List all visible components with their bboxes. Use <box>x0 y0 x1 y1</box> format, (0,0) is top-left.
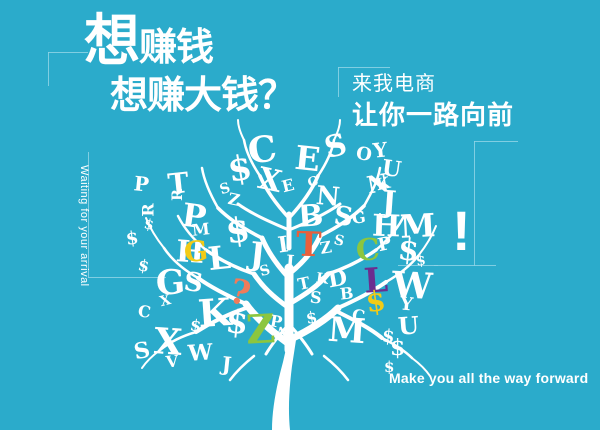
tree-letter: Z <box>319 239 333 257</box>
poster-canvas: 想赚钱 想赚大钱？ Waiting for your arrival 来我电商 … <box>0 0 600 430</box>
tree-letter: $ <box>189 317 202 334</box>
tree-letter: E <box>293 141 321 176</box>
headline-block: 想赚钱 想赚大钱？ <box>84 14 374 114</box>
headline-line-2: 想赚大钱？ <box>110 76 374 114</box>
tree-letter: D <box>326 267 349 292</box>
right-headline-line-1: 来我电商 <box>352 72 514 95</box>
bracket-exclamation-top <box>474 141 518 142</box>
headline-word-big: 想 <box>84 9 139 74</box>
tree-letter: R <box>171 189 185 201</box>
bracket-top-left-vertical <box>48 52 49 86</box>
tree-letter: C <box>137 303 152 321</box>
tree-letter: $ <box>415 253 427 268</box>
bracket-exclamation-vertical <box>474 141 475 266</box>
tree-letter: S <box>309 289 322 306</box>
headline-word-small: 赚钱 <box>139 25 213 69</box>
money-tree-illustration: CESOYUN$XENCBSGJKTRPSZMHL$JILTZSCHM$PLW$… <box>120 118 460 430</box>
tree-letter: P <box>376 235 393 255</box>
tree-letter: $ <box>224 213 252 250</box>
tree-letter: $ <box>364 287 387 317</box>
stray-dollar-icon: $ <box>384 358 394 376</box>
tree-letter: O <box>355 145 374 165</box>
tree-letter: $ <box>125 229 140 249</box>
bracket-top-left-horizontal <box>48 52 88 53</box>
tree-letter: G <box>351 209 367 227</box>
vertical-tagline: Waiting for your arrival <box>78 165 90 287</box>
tree-letter: M <box>327 313 367 350</box>
tree-letter: V <box>165 353 179 370</box>
tree-letter: G <box>183 237 210 267</box>
tree-letter: T <box>295 228 321 263</box>
tree-letter: P <box>133 173 150 194</box>
tree-letter: R <box>141 203 157 216</box>
tree-letter: W <box>187 341 213 365</box>
tree-letter: K <box>374 175 391 194</box>
tree-letter: K <box>315 271 329 287</box>
headline-line-1: 想赚钱 <box>84 14 374 70</box>
